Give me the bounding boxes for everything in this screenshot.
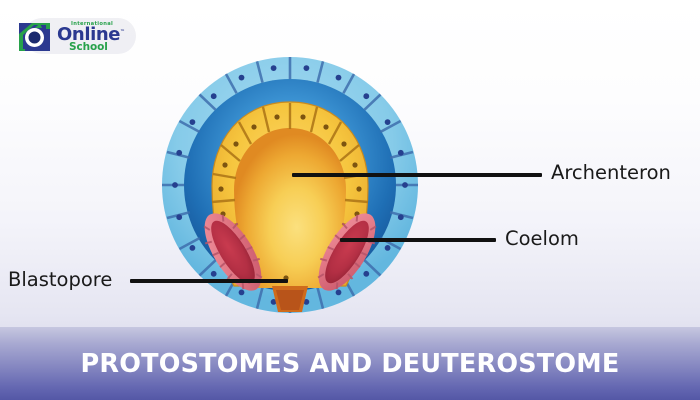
coelom-leader-line xyxy=(340,238,496,242)
logo-wordmark: International Online™ School xyxy=(57,22,125,53)
blastopore-opening xyxy=(272,286,308,312)
blastopore-label: Blastopore xyxy=(8,268,112,291)
screenshot-canvas: International Online™ School xyxy=(0,0,700,400)
logo-square-circle-icon xyxy=(18,20,52,54)
title-banner: PROTOSTOMES AND DEUTEROSTOME xyxy=(0,327,700,400)
archenteron-label: Archenteron xyxy=(551,161,671,184)
archenteron-leader-line xyxy=(292,173,542,177)
banner-title-text: PROTOSTOMES AND DEUTEROSTOME xyxy=(81,349,620,379)
coelom-label: Coelom xyxy=(505,227,579,250)
site-logo[interactable]: International Online™ School xyxy=(18,16,125,58)
logo-trademark: ™ xyxy=(120,29,125,35)
blastopore-leader-line xyxy=(130,279,288,283)
